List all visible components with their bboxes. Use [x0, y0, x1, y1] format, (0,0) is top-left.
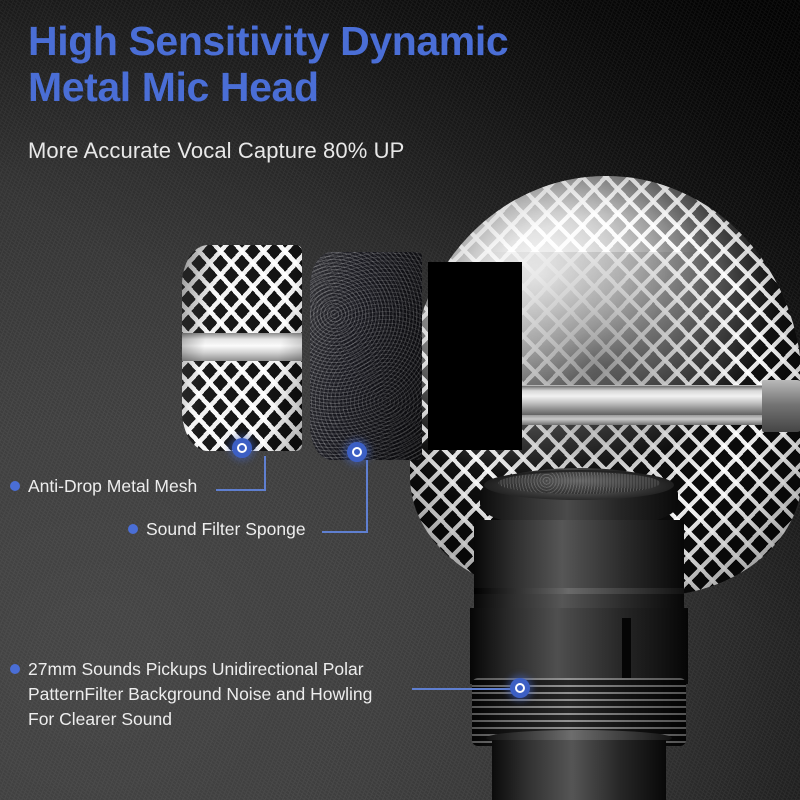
callout-anti-drop-metal-mesh: Anti-Drop Metal Mesh [10, 474, 197, 499]
callout-label-sound-filter-sponge: Sound Filter Sponge [146, 519, 306, 539]
page-subtitle: More Accurate Vocal Capture 80% UP [28, 138, 404, 164]
callout-3-marker[interactable] [510, 678, 530, 698]
mesh-panel-shading [182, 245, 302, 451]
bullet-dot-icon [10, 664, 20, 674]
bullet-dot-icon [128, 524, 138, 534]
callout-1-marker[interactable] [232, 438, 252, 458]
callout-2-line-vertical [366, 460, 368, 532]
callout-polar-line-3: For Clearer Sound [28, 709, 172, 729]
title-line-1: High Sensitivity Dynamic [28, 18, 508, 64]
callout-label-anti-drop-metal-mesh: Anti-Drop Metal Mesh [28, 476, 197, 496]
mic-body-seam [474, 588, 684, 594]
bullet-dot-icon [10, 481, 20, 491]
callout-2-marker[interactable] [347, 442, 367, 462]
mic-body-ring [470, 608, 688, 684]
page-title: High Sensitivity Dynamic Metal Mic Head [28, 18, 728, 110]
callout-polar-pattern: 27mm Sounds Pickups Unidirectional Polar… [10, 657, 440, 732]
callout-1-line-vertical [264, 456, 266, 490]
callout-2-line-horizontal [322, 531, 368, 533]
callout-3-line-horizontal [412, 688, 512, 690]
metal-mesh-panel [182, 245, 302, 451]
callout-polar-line-2: PatternFilter Background Noise and Howli… [28, 684, 372, 704]
infographic-canvas: High Sensitivity Dynamic Metal Mic Head … [0, 0, 800, 800]
mic-body-midsection [474, 520, 684, 616]
mic-body-base [492, 740, 666, 800]
mic-capsule-foam [498, 472, 660, 494]
mic-band-right-edge [762, 380, 800, 432]
mic-body-notch [622, 618, 631, 678]
black-inner-panel [428, 262, 522, 450]
callout-1-line-horizontal [216, 489, 266, 491]
microphone-body-illustration [470, 468, 688, 800]
callout-polar-line-1: 27mm Sounds Pickups Unidirectional Polar [28, 659, 364, 679]
callout-sound-filter-sponge: Sound Filter Sponge [128, 517, 306, 542]
sponge-panel [310, 252, 422, 460]
sponge-panel-shading [310, 252, 422, 460]
title-line-2: Metal Mic Head [28, 64, 728, 110]
